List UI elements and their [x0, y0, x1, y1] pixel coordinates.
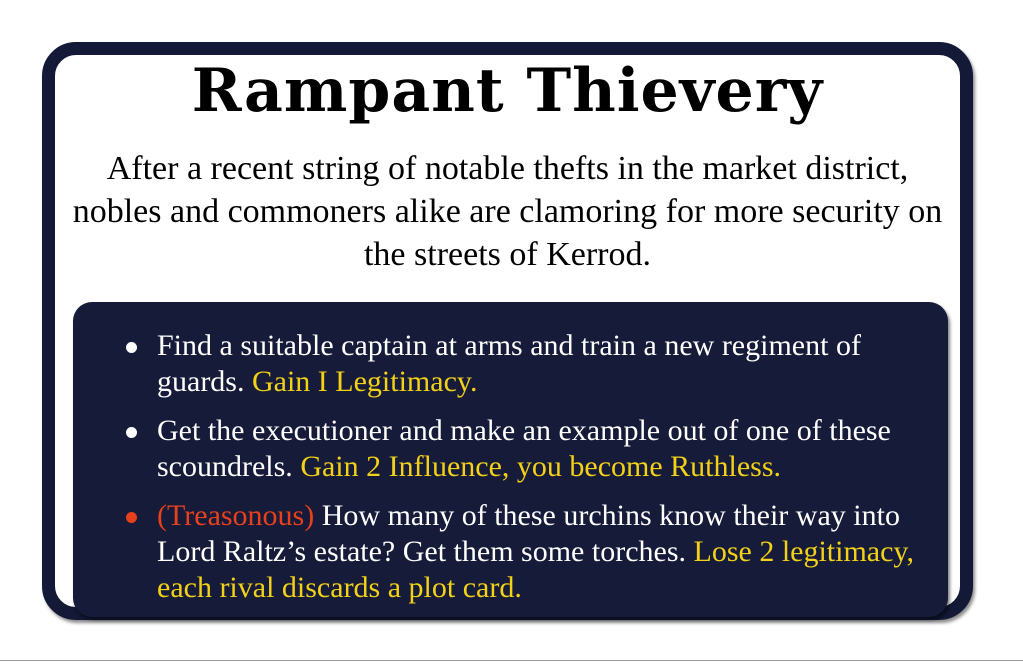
option-effect-text: Gain I Legitimacy.	[252, 365, 477, 398]
option-choice[interactable]: Get the executioner and make an example …	[93, 413, 928, 485]
event-card: Rampant Thievery After a recent string o…	[42, 42, 973, 620]
bullet-icon	[126, 512, 137, 523]
option-effect-text: Gain 2 Influence, you become Ruthless.	[300, 450, 781, 483]
option-choice-treasonous[interactable]: (Treasonous) How many of these urchins k…	[93, 498, 928, 606]
option-treason-tag: (Treasonous)	[157, 499, 314, 532]
bottom-divider	[0, 660, 1023, 661]
option-choice[interactable]: Find a suitable captain at arms and trai…	[93, 328, 928, 400]
card-flavor-text: After a recent string of notable thefts …	[63, 147, 952, 276]
options-panel: Find a suitable captain at arms and trai…	[73, 302, 948, 617]
bullet-icon	[126, 427, 137, 438]
bullet-icon	[126, 342, 137, 353]
card-title: Rampant Thievery	[55, 57, 960, 125]
